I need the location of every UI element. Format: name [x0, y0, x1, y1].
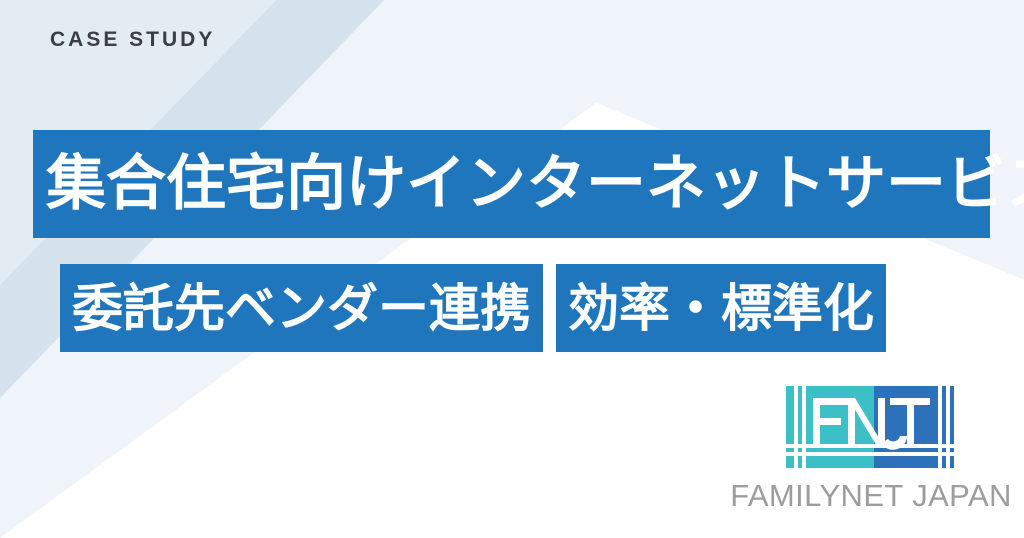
logo-lockup: FAMILYNET JAPAN: [727, 386, 1015, 514]
tag-row: 委託先ベンダー連携 効率・標準化: [60, 264, 886, 352]
tag-chip-efficiency: 効率・標準化: [556, 264, 886, 352]
page-title: 集合住宅向けインターネットサービス: [46, 154, 1024, 214]
title-banner: 集合住宅向けインターネットサービス: [33, 130, 990, 238]
logo-wordmark: FAMILYNET JAPAN: [727, 478, 1015, 514]
eyebrow-label: CASE STUDY: [50, 28, 215, 52]
tag-chip-label: 効率・標準化: [568, 283, 874, 334]
case-study-card: CASE STUDY 集合住宅向けインターネットサービス 委託先ベンダー連携 効…: [0, 0, 1024, 538]
tag-chip-vendor: 委託先ベンダー連携: [60, 264, 543, 352]
tag-chip-label: 委託先ベンダー連携: [72, 283, 531, 334]
familynet-japan-logo-icon: [786, 386, 958, 468]
